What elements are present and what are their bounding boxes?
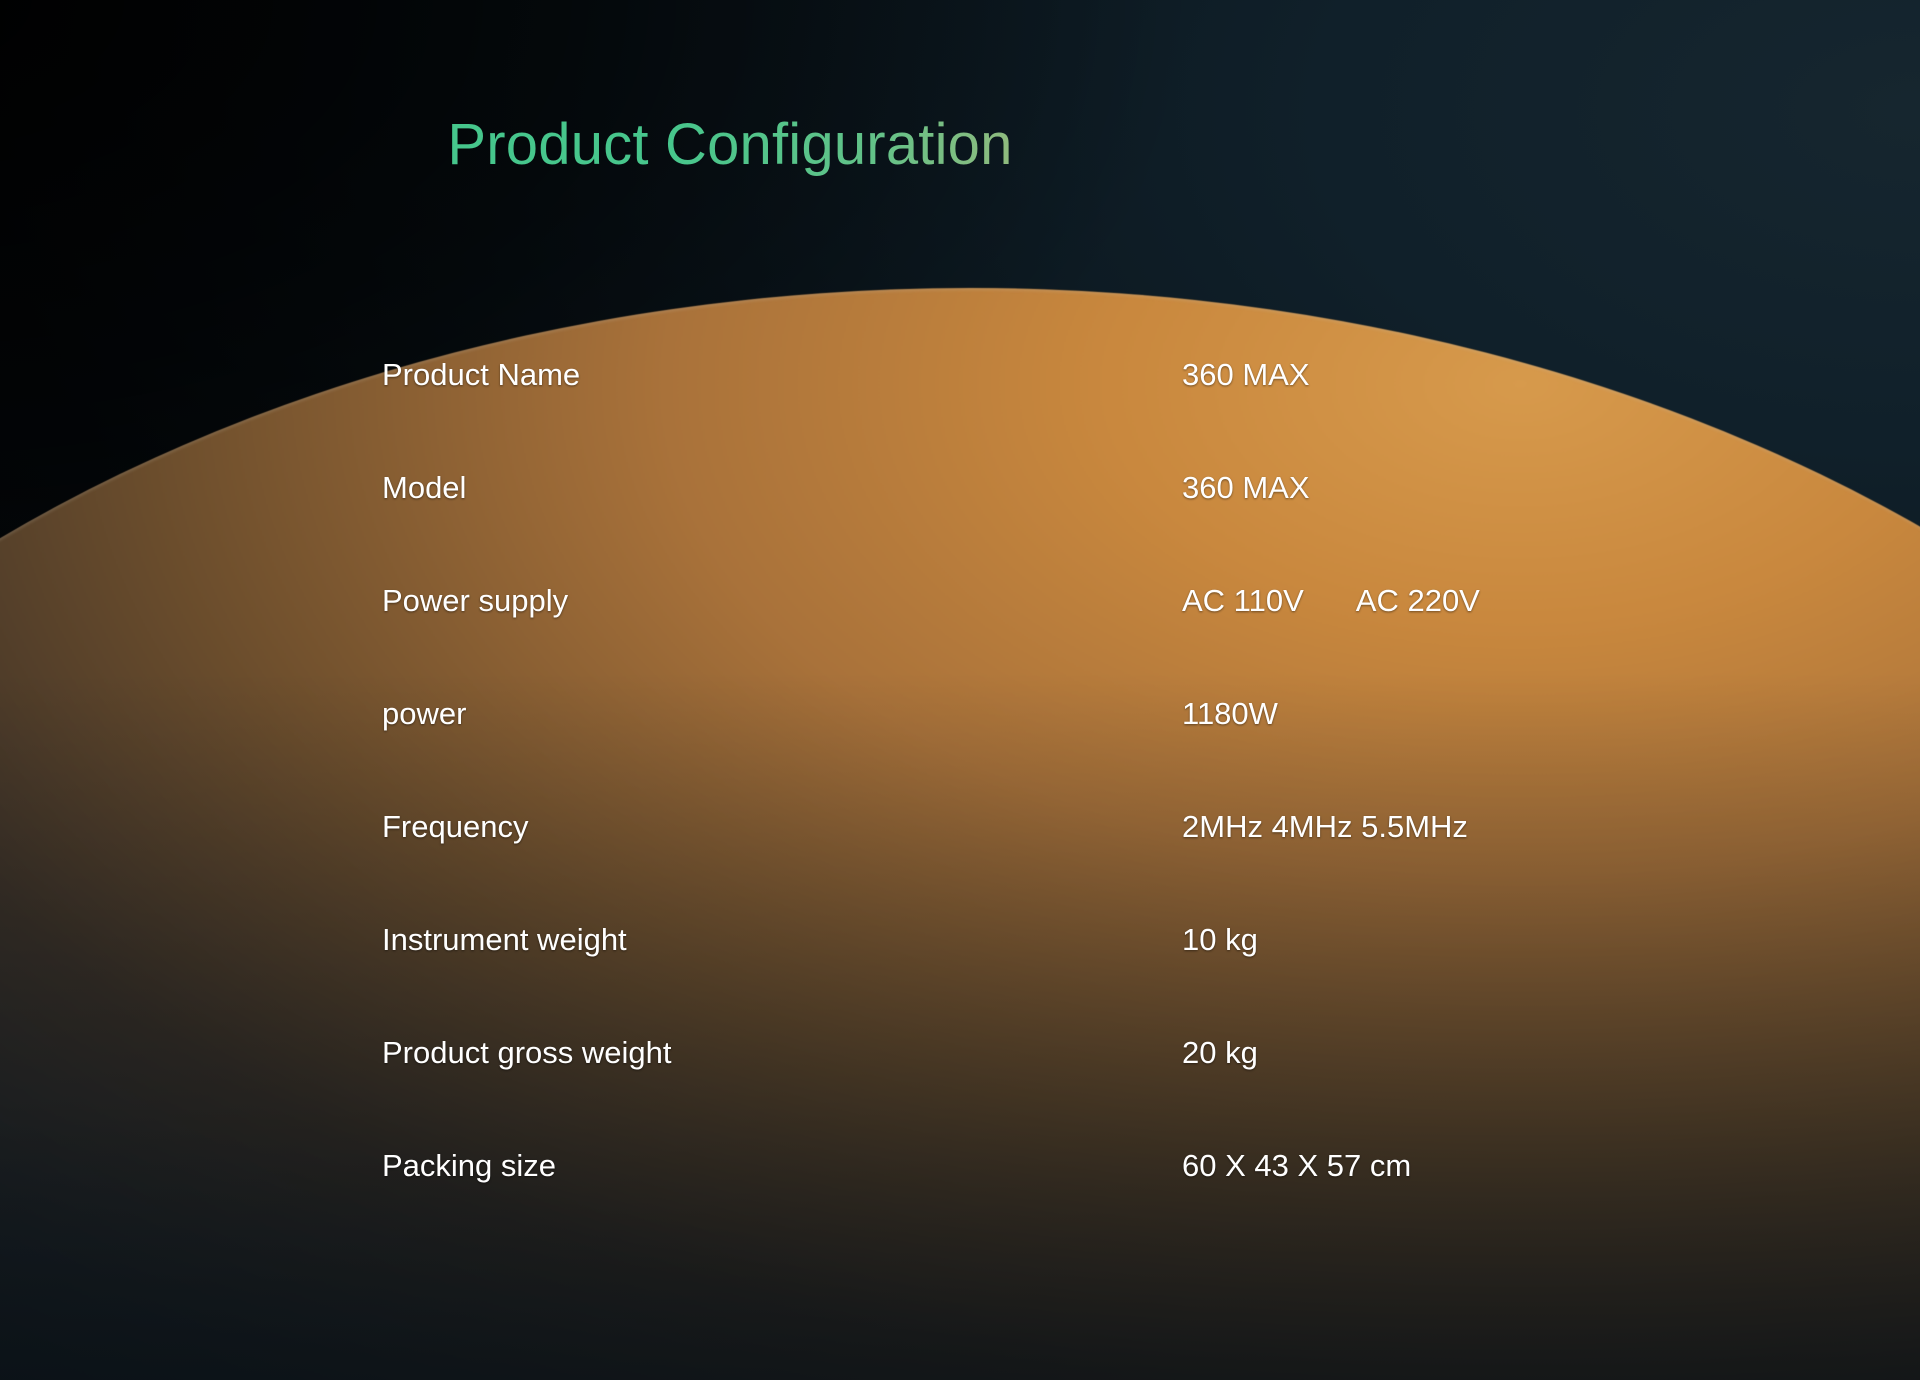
table-row: Instrument weight 10 kg xyxy=(382,920,1582,1033)
spec-label: Power supply xyxy=(382,581,568,621)
spec-label: Packing size xyxy=(382,1146,556,1186)
product-configuration-slide: Product Configuration Product Name 360 M… xyxy=(0,0,1920,1380)
table-row: Frequency 2MHz 4MHz 5.5MHz xyxy=(382,807,1582,920)
spec-value-primary: AC 110V xyxy=(1182,583,1304,618)
table-row: Product gross weight 20 kg xyxy=(382,1033,1582,1146)
spec-value: 360 MAX xyxy=(1182,355,1310,395)
spec-label: Model xyxy=(382,468,466,508)
spec-label: power xyxy=(382,694,466,734)
table-row: Packing size 60 X 43 X 57 cm xyxy=(382,1146,1582,1259)
spec-value: 360 MAX xyxy=(1182,468,1310,508)
table-row: power 1180W xyxy=(382,694,1582,807)
spec-value: 1180W xyxy=(1182,694,1278,734)
spec-value: 20 kg xyxy=(1182,1033,1258,1073)
spec-label: Frequency xyxy=(382,807,528,847)
spec-label: Product gross weight xyxy=(382,1033,671,1073)
spec-label: Product Name xyxy=(382,355,580,395)
page-title: Product Configuration xyxy=(0,112,1460,179)
spec-value: 10 kg xyxy=(1182,920,1258,960)
table-row: Power supply AC 110VAC 220V xyxy=(382,581,1582,694)
spec-label: Instrument weight xyxy=(382,920,627,960)
table-row: Product Name 360 MAX xyxy=(382,355,1582,468)
spec-value-secondary: AC 220V xyxy=(1356,583,1480,618)
specification-table: Product Name 360 MAX Model 360 MAX Power… xyxy=(382,355,1582,1259)
spec-value: 60 X 43 X 57 cm xyxy=(1182,1146,1411,1186)
spec-value: AC 110VAC 220V xyxy=(1182,581,1480,621)
table-row: Model 360 MAX xyxy=(382,468,1582,581)
spec-value: 2MHz 4MHz 5.5MHz xyxy=(1182,807,1468,847)
